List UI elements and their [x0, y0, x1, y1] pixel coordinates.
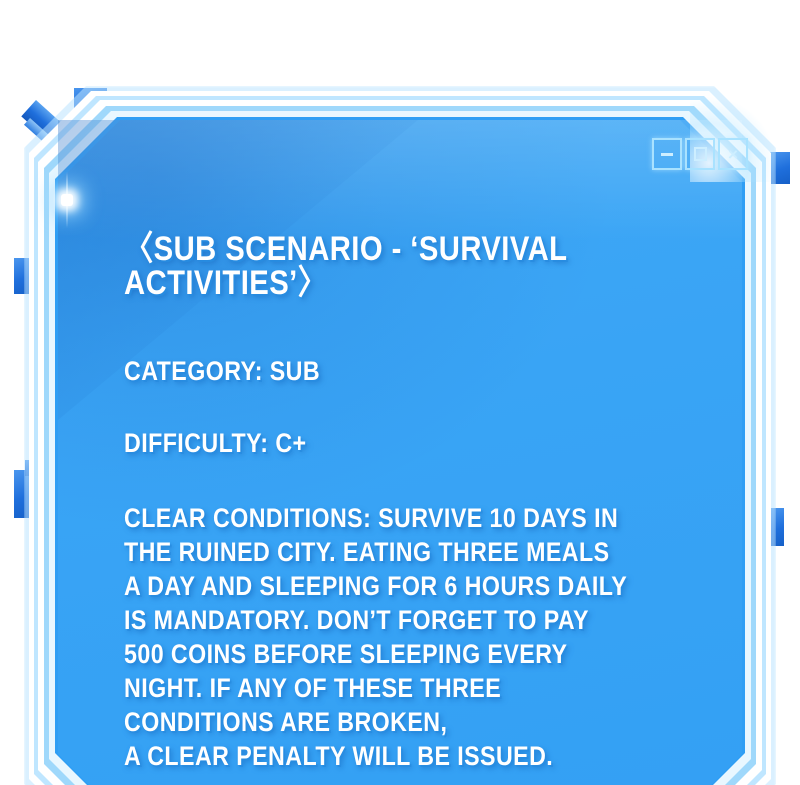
- maximize-icon: [694, 147, 707, 161]
- minimize-icon: [661, 153, 673, 156]
- scenario-title: 〈SUB SCENARIO - ‘SURVIVAL ACTIVITIES’〉: [124, 232, 631, 300]
- category-row: CATEGORY: SUB: [124, 358, 631, 386]
- glow-node-core: [61, 194, 73, 206]
- scenario-window-screen: × 〈SUB SCENARIO - ‘SURVIVAL ACTIVITIES’〉…: [0, 0, 800, 785]
- close-button[interactable]: ×: [718, 138, 748, 170]
- minimize-button[interactable]: [652, 138, 682, 170]
- clear-conditions-paragraph: CLEAR CONDITIONS: SURVIVE 10 DAYS IN THE…: [124, 501, 631, 773]
- close-icon: ×: [728, 146, 738, 163]
- maximize-button[interactable]: [685, 138, 715, 170]
- frame-glow-node: [57, 190, 77, 210]
- scenario-content: 〈SUB SCENARIO - ‘SURVIVAL ACTIVITIES’〉 C…: [124, 232, 714, 785]
- window-controls: ×: [652, 138, 748, 170]
- difficulty-row: DIFFICULTY: C+: [124, 430, 631, 458]
